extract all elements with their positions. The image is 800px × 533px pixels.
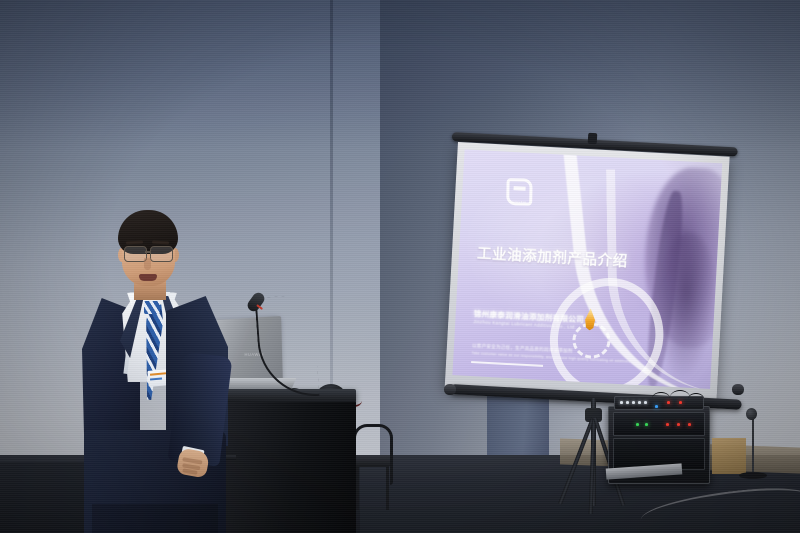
trousers [92, 504, 218, 533]
amp-led-red-3 [688, 423, 691, 426]
presenter [78, 204, 268, 533]
rack-cable-1 [652, 392, 670, 405]
amp-led-green-1 [636, 423, 639, 426]
audio-rack [608, 396, 716, 488]
panel-led-5 [644, 401, 647, 404]
slide-canvas: KANGTAI 工业油添加剂产品介绍 锦州康泰润滑油添加剂有限公司 Jinzho… [452, 149, 722, 389]
panel-led-2 [626, 401, 629, 404]
screen-frame: KANGTAI 工业油添加剂产品介绍 锦州康泰润滑油添加剂有限公司 Jinzho… [445, 142, 730, 404]
eyeglasses-lens-right [150, 246, 173, 262]
panel-led-3 [632, 401, 635, 404]
necktie-knot [144, 301, 160, 314]
floor-mic-head [746, 408, 757, 420]
nose [144, 258, 151, 270]
chair-leg-right [386, 466, 389, 510]
slide-divider [471, 361, 543, 366]
slide-title: 工业油添加剂产品介绍 [476, 242, 657, 273]
floor-mic-stand [752, 415, 754, 477]
cardboard-box [712, 438, 746, 474]
amp-led-red-1 [666, 423, 669, 426]
logo-bar [514, 186, 526, 190]
projection-screen: KANGTAI 工业油添加剂产品介绍 锦州康泰润滑油添加剂有限公司 Jinzho… [452, 126, 744, 406]
company-shield-logo-icon: KANGTAI [504, 178, 531, 207]
screen-bottom-cap-right [732, 384, 745, 396]
logo-wordmark: KANGTAI [503, 200, 533, 206]
eyeglasses-bridge [145, 251, 150, 253]
panel-led-1 [620, 401, 623, 404]
rack-cable-3 [688, 393, 704, 405]
mouth [139, 274, 157, 281]
screen-top-knob [588, 133, 598, 144]
panel-led-4 [638, 401, 641, 404]
amp-led-red-2 [677, 423, 680, 426]
screen-bottom-cap-left [444, 384, 457, 396]
rack-amplifier [613, 412, 705, 436]
amp-led-green-2 [645, 423, 648, 426]
floor-mic-base [739, 472, 767, 479]
rack-cable-2 [670, 390, 690, 405]
panel-led-blue [655, 405, 658, 408]
presentation-scene: KANGTAI 工业油添加剂产品介绍 锦州康泰润滑油添加剂有限公司 Jinzho… [0, 0, 800, 533]
